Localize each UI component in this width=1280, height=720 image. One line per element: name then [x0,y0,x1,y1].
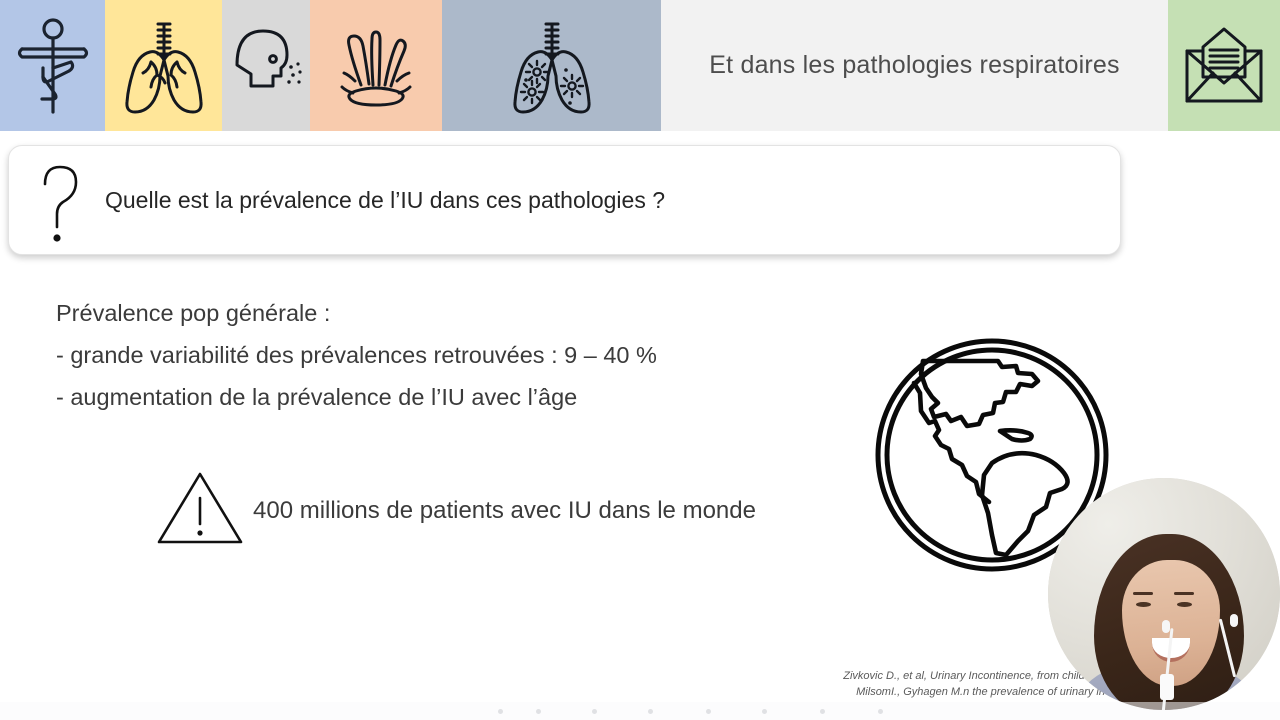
presenter-video-bubble[interactable] [1048,478,1280,710]
player-dot [820,709,825,714]
body-line: - augmentation de la prévalence de l’IU … [56,376,856,418]
header-band: Et dans les pathologies respiratoires [0,0,1280,131]
player-dot [648,709,653,714]
player-dot [878,709,883,714]
earbud-right-icon [1230,614,1238,627]
body-line: Prévalence pop générale : [56,292,856,334]
header-tile-infected-lungs [442,0,661,131]
webcam-eye-right [1177,602,1192,607]
player-control-bar[interactable] [0,702,1280,720]
header-tile-coughing-head [222,0,310,131]
question-callout-box: Quelle est la prévalence de l’IU dans ce… [8,145,1121,255]
question-text: Quelle est la prévalence de l’IU dans ce… [105,187,665,214]
envelope-letter-icon [1183,25,1265,107]
player-dot [592,709,597,714]
coughing-head-icon [229,21,303,111]
infected-lungs-icon [506,18,598,114]
webcam-brow-right [1174,592,1194,595]
body-text-block: Prévalence pop générale : - grande varia… [56,292,856,418]
earbud-inline-control [1160,674,1174,700]
header-tile-envelope [1168,0,1280,131]
player-dot [762,709,767,714]
header-title-panel: Et dans les pathologies respiratoires [661,0,1168,131]
webcam-brow-left [1133,592,1153,595]
highlight-row: 400 millions de patients avec IU dans le… [155,468,756,553]
header-tile-lungs [105,0,222,131]
page-title: Et dans les pathologies respiratoires [709,51,1119,80]
question-mark-icon [35,160,91,249]
header-tile-splash [310,0,442,131]
highlight-text: 400 millions de patients avec IU dans le… [253,497,756,525]
earbud-left-icon [1162,620,1170,633]
splash-icon [331,23,421,109]
slide-canvas: Et dans les pathologies respiratoires [0,0,1280,720]
player-dot [536,709,541,714]
lungs-icon [118,18,210,114]
body-line: - grande variabilité des prévalences ret… [56,334,856,376]
webcam-eye-left [1136,602,1151,607]
yoga-figure-icon [14,16,92,116]
player-dot [706,709,711,714]
warning-triangle-icon [155,468,245,553]
player-dot [498,709,503,714]
header-tile-yoga [0,0,105,131]
